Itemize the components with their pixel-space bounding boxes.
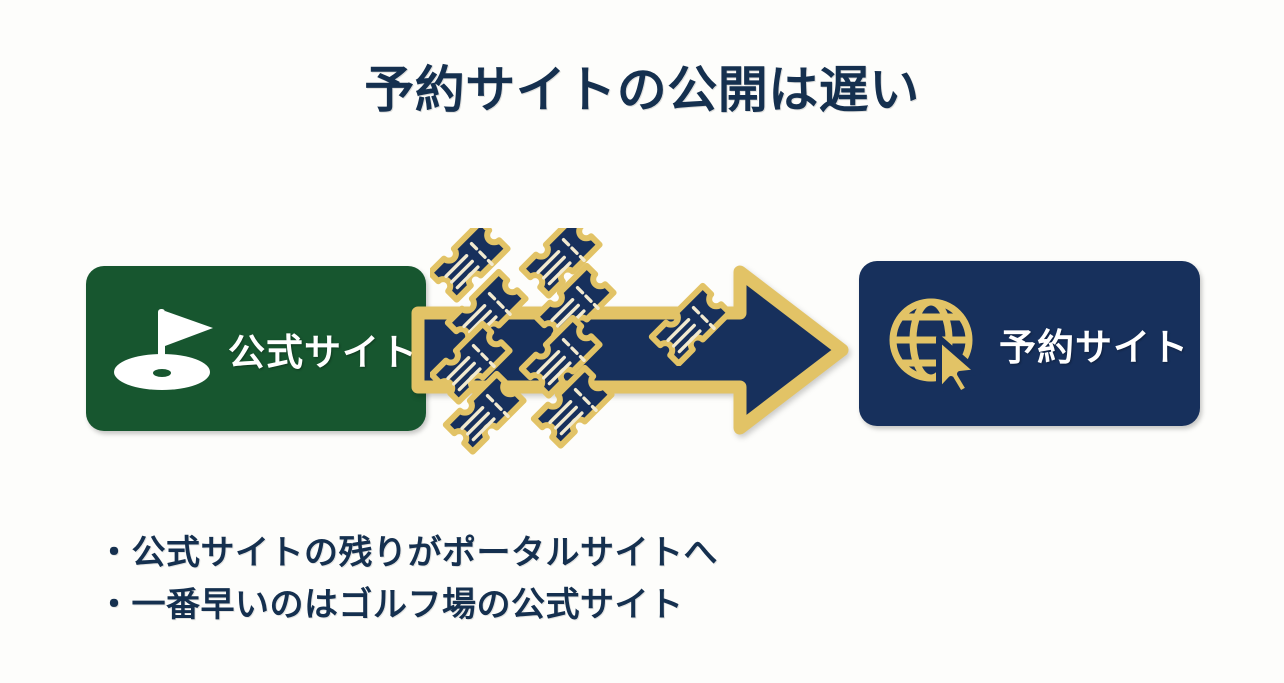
golf-flag-icon [108,299,216,399]
page-title: 予約サイトの公開は遅い [0,50,1284,122]
official-site-box[interactable]: 公式サイト [86,266,426,431]
reservation-site-box[interactable]: 予約サイト [859,261,1200,426]
official-site-label: 公式サイト [228,322,418,376]
globe-cursor-icon [883,296,987,392]
ticket-icon [648,282,732,366]
ticket-cluster [430,228,620,473]
reservation-site-label: 予約サイト [999,317,1189,371]
list-item: ・一番早いのはゴルフ場の公式サイト [97,580,997,632]
slide-canvas: 予約サイトの公開は遅い 公式サイト [0,0,1284,683]
bullet-list: ・公式サイトの残りがポータルサイトへ ・一番早いのはゴルフ場の公式サイト [97,528,997,631]
list-item: ・公式サイトの残りがポータルサイトへ [97,528,997,580]
